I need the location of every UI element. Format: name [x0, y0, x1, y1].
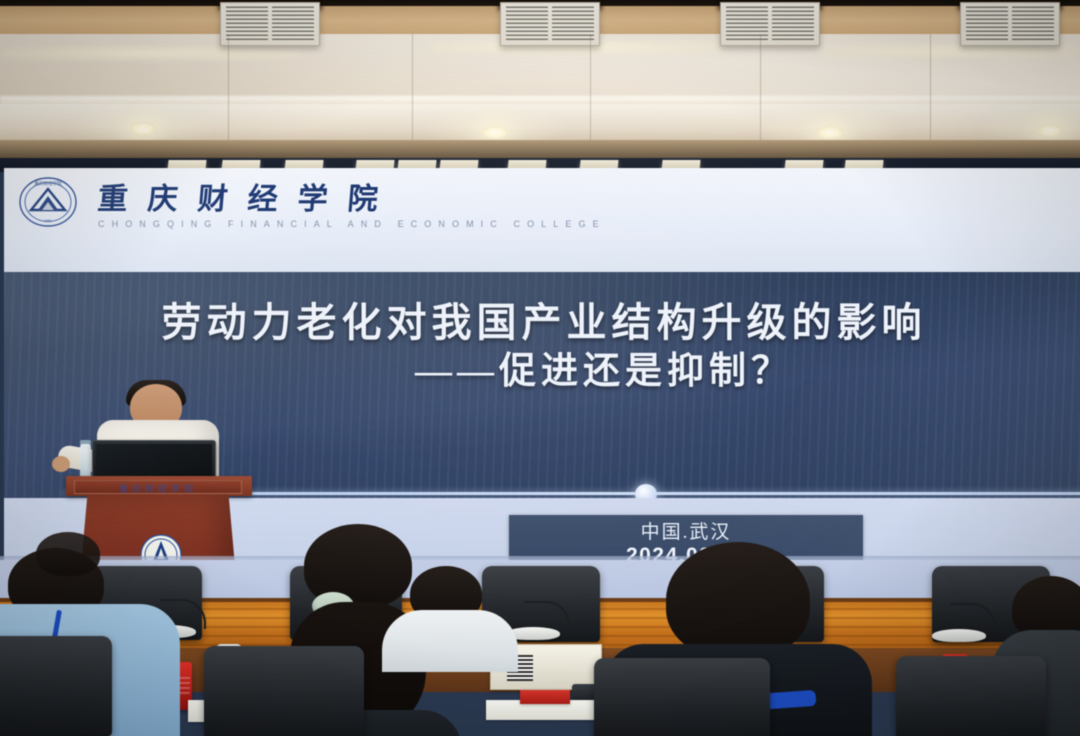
podium-band-text: 重庆财经学院	[75, 482, 241, 495]
ceiling-seam	[930, 34, 931, 146]
conference-chair	[0, 636, 112, 736]
institution-name-block: 重庆财经学院 CHONGQING FINANCIAL AND ECONOMIC …	[98, 174, 606, 229]
microphone-base	[932, 629, 986, 642]
vent-grill-icon	[506, 6, 548, 40]
person-head	[666, 542, 810, 658]
vent-grill-icon	[552, 6, 594, 40]
conference-chair	[896, 656, 1046, 736]
conference-photo-scene: 重庆财经学院 1951 重庆财经学院 CHONGQING FINANCIAL A…	[0, 0, 1080, 736]
vent-grill-icon	[226, 6, 268, 40]
ceiling-vent	[720, 2, 820, 46]
ceiling-downlight	[1037, 124, 1063, 137]
vent-grill-icon	[1012, 6, 1054, 40]
person-shoulders	[382, 610, 518, 672]
cove-light-glow	[820, 44, 1080, 58]
conference-chair	[594, 658, 770, 736]
red-booklet	[520, 690, 570, 704]
ceiling-downlight	[482, 126, 508, 139]
institution-name-cn: 重庆财经学院	[96, 174, 608, 218]
ceiling-vent	[500, 2, 600, 46]
person-head	[36, 532, 100, 576]
institution-name-en: CHONGQING FINANCIAL AND ECONOMIC COLLEGE	[98, 219, 606, 229]
ceiling-seam	[228, 34, 229, 146]
slide-header-band: 重庆财经学院 1951 重庆财经学院 CHONGQING FINANCIAL A…	[4, 168, 1080, 272]
venue-city: 中国.武汉	[509, 517, 863, 544]
vent-grill-icon	[272, 6, 314, 40]
institution-logo-row: 重庆财经学院 1951 重庆财经学院 CHONGQING FINANCIAL A…	[18, 174, 606, 229]
svg-text:1951: 1951	[44, 218, 54, 223]
ceiling-downlight	[130, 122, 156, 135]
svg-text:重庆财经学院: 重庆财经学院	[34, 180, 62, 187]
podium-water-bottle	[80, 444, 91, 480]
college-seal-icon: 重庆财经学院 1951	[18, 176, 78, 228]
ceiling-seam	[412, 34, 413, 146]
desk-microphone	[932, 622, 986, 642]
ceiling-vent	[220, 2, 320, 46]
ceiling-seam	[590, 34, 591, 146]
speaker-hand	[52, 456, 70, 472]
conference-chair	[204, 646, 364, 736]
cove-light-glow	[0, 46, 300, 60]
vent-grill-icon	[772, 6, 814, 40]
vent-grill-icon	[966, 6, 1008, 40]
ceiling-vent	[960, 2, 1060, 46]
laptop-screen	[96, 444, 212, 480]
ceiling-downlight	[817, 126, 843, 139]
vent-grill-icon	[726, 6, 768, 40]
podium-name-band: 重庆财经学院	[74, 480, 242, 494]
